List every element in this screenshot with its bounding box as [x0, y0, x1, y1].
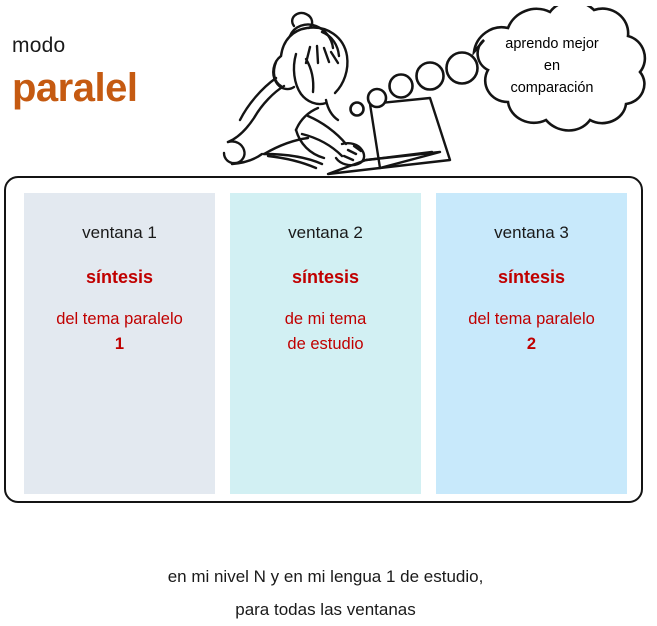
window-column-1[interactable]: ventana 1 síntesis del tema paralelo 1: [24, 193, 215, 494]
mode-name-title: paralel: [12, 66, 137, 111]
window-2-body-line-2: de estudio: [230, 332, 421, 357]
thought-bubble-text: aprendo mejor en comparación: [462, 33, 642, 99]
window-2-heading: síntesis: [230, 267, 421, 288]
header-area: modo paralel: [0, 0, 657, 176]
thought-bubble-line-3: comparación: [462, 77, 642, 99]
window-column-3[interactable]: ventana 3 síntesis del tema paralelo 2: [436, 193, 627, 494]
window-1-body-line-1: del tema paralelo: [56, 310, 183, 328]
window-3-body: del tema paralelo 2: [436, 307, 627, 357]
window-1-body: del tema paralelo 1: [24, 307, 215, 357]
window-2-body-line-1: de mi tema: [285, 310, 367, 328]
window-2-title: ventana 2: [230, 223, 421, 243]
window-3-body-line-2: 2: [436, 332, 627, 357]
window-column-2[interactable]: ventana 2 síntesis de mi tema de estudio: [230, 193, 421, 494]
window-2-body: de mi tema de estudio: [230, 307, 421, 357]
window-1-heading: síntesis: [24, 267, 215, 288]
panel-footer-line-2: para todas las ventanas: [6, 593, 645, 626]
windows-column-group: ventana 1 síntesis del tema paralelo 1 v…: [24, 193, 627, 494]
window-3-title: ventana 3: [436, 223, 627, 243]
thought-bubble-line-1: aprendo mejor: [462, 33, 642, 55]
window-1-body-line-2: 1: [24, 332, 215, 357]
window-3-body-line-1: del tema paralelo: [468, 310, 595, 328]
panel-footer-line-1: en mi nivel N y en mi lengua 1 de estudi…: [6, 560, 645, 593]
window-3-heading: síntesis: [436, 267, 627, 288]
thought-bubble-line-2: en: [462, 55, 642, 77]
panel-footer-note: en mi nivel N y en mi lengua 1 de estudi…: [6, 560, 645, 626]
windows-panel: ventana 1 síntesis del tema paralelo 1 v…: [4, 176, 643, 503]
mode-label: modo: [12, 34, 65, 58]
window-1-title: ventana 1: [24, 223, 215, 243]
